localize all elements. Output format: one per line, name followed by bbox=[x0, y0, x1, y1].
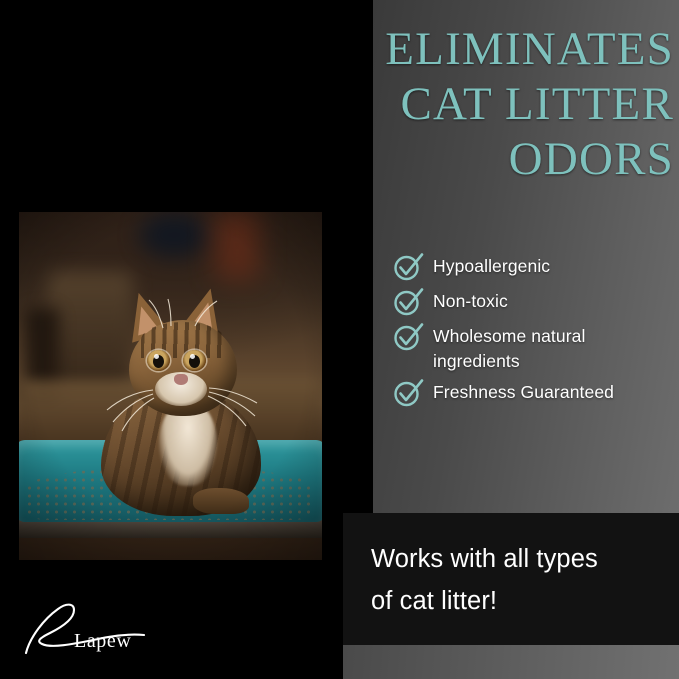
check-circle-icon bbox=[392, 377, 424, 407]
list-item: Wholesome natural ingredients bbox=[392, 322, 674, 374]
feature-label: Freshness Guaranteed bbox=[433, 378, 614, 405]
headline-line-1: ELIMINATES bbox=[228, 22, 674, 77]
bottom-gray-strip bbox=[343, 645, 679, 679]
callout-line-1: Works with all types bbox=[371, 538, 667, 580]
list-item: Freshness Guaranteed bbox=[392, 378, 674, 409]
headline: ELIMINATES CAT LITTER ODORS bbox=[228, 22, 674, 187]
headline-line-2: CAT LITTER bbox=[228, 77, 674, 132]
photo-inner bbox=[19, 212, 322, 560]
product-infographic: ELIMINATES CAT LITTER ODORS bbox=[0, 0, 679, 679]
headline-line-3: ODORS bbox=[228, 132, 674, 187]
check-circle-icon bbox=[392, 286, 424, 316]
callout-box: Works with all types of cat litter! bbox=[343, 513, 679, 645]
callout-line-2: of cat litter! bbox=[371, 580, 667, 622]
list-item: Non-toxic bbox=[392, 287, 674, 318]
logo-wordmark: Lapew bbox=[74, 630, 131, 653]
photo-vignette bbox=[19, 212, 322, 560]
feature-label: Wholesome natural ingredients bbox=[433, 322, 674, 374]
feature-label: Non-toxic bbox=[433, 287, 508, 314]
check-circle-icon bbox=[392, 251, 424, 281]
feature-label: Hypoallergenic bbox=[433, 252, 550, 279]
list-item: Hypoallergenic bbox=[392, 252, 674, 283]
feature-list: Hypoallergenic Non-toxic Wholesome natur… bbox=[392, 252, 674, 413]
brand-logo: Lapew bbox=[22, 597, 162, 659]
callout-text: Works with all types of cat litter! bbox=[371, 538, 667, 622]
check-circle-icon bbox=[392, 321, 424, 351]
kitten-photo bbox=[19, 212, 322, 560]
